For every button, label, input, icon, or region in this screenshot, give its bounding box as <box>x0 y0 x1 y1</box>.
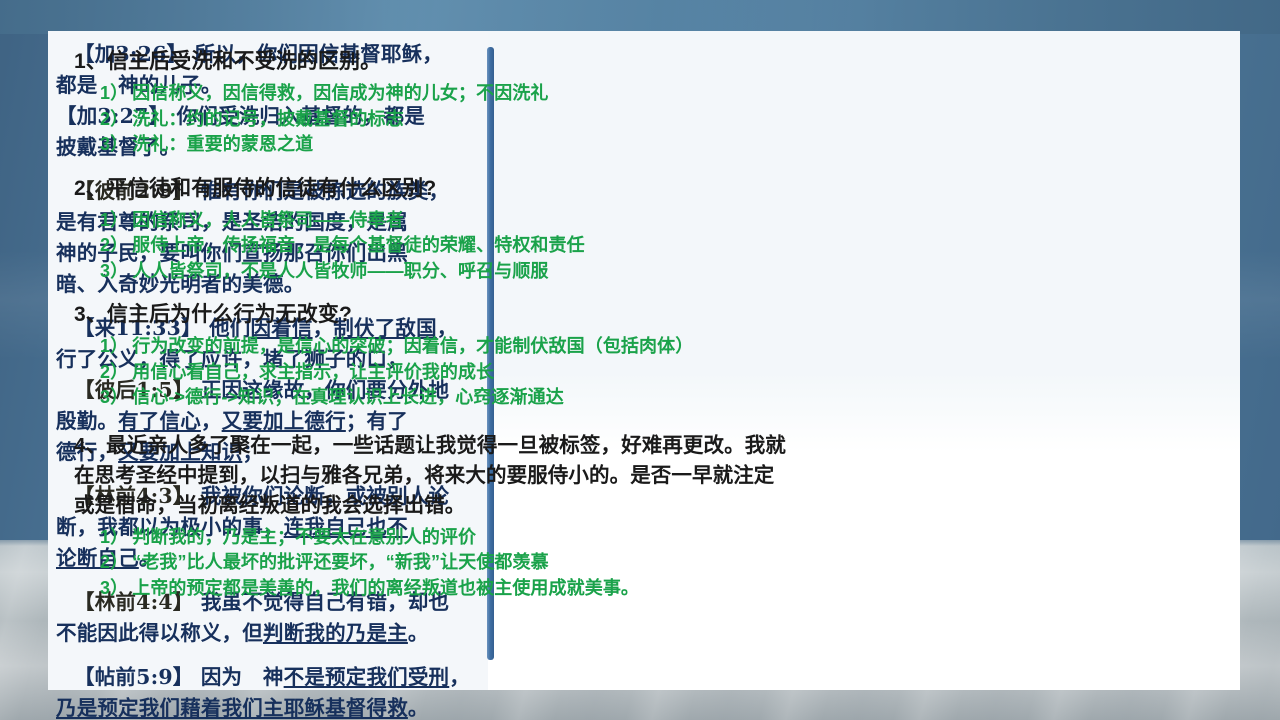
outline-point-text: 行为改变的前提，是信心的突破；因着信，才能制伏敌国（包括肉体） <box>132 336 693 356</box>
outline-point-list: 1）判断我的，乃是主；不要太在意别人的评价2）“老我”比人最坏的批评还要坏，“新… <box>100 525 786 602</box>
outline-point: 3）信心->德行->知识；在真理认识上长进，心窍逐渐通达 <box>100 385 786 411</box>
outline-spacer <box>74 158 786 168</box>
outline-point: 2）服侍上帝，传扬福音，是每个基督徒的荣耀、特权和责任 <box>100 233 786 259</box>
scripture-line: 乃是预定我们藉着我们主耶稣基督得救。 <box>56 693 480 720</box>
outline-point-text: 服侍上帝，传扬福音，是每个基督徒的荣耀、特权和责任 <box>132 235 585 255</box>
presentation-slide: 【加3:26】 所以，你们因信基督耶稣，都是 神的儿子。【加3:27】 你们受洗… <box>0 0 1280 720</box>
outline-point-number: 1） <box>100 83 128 103</box>
scripture-reference: 【帖前5:9】 <box>74 665 194 689</box>
outline-item-heading: 4、最近亲人多了聚在一起，一些话题让我觉得一旦被标签，好难再更改。我就在思考圣经… <box>74 431 786 521</box>
outline-point: 3）人人皆祭司，不是人人皆牧师——职分、呼召与顺服 <box>100 259 786 285</box>
outline-point-list: 1）行为改变的前提，是信心的突破；因着信，才能制伏敌国（包括肉体）2）用信心看自… <box>100 334 786 411</box>
outline-list: 1、信主后受洗和不受洗的区别。1）因信称义，因信得救，因信成为神的儿女；不因洗礼… <box>74 47 786 617</box>
outline-point-text: 洗礼：重要的蒙恩之道 <box>132 134 313 154</box>
outline-point-number: 1） <box>100 336 128 356</box>
outline-point: 2）洗礼：约的记号，披戴基督的标志 <box>100 107 786 133</box>
outline-point-number: 2） <box>100 552 128 572</box>
scripture-line: 【帖前5:9】 因为 神不是预定我们受刑， <box>56 662 480 693</box>
outline-spacer <box>74 601 786 611</box>
outline-point-number: 3） <box>100 387 128 407</box>
outline-point: 1）因信称义，人人皆祭司——侍奉者 <box>100 208 786 234</box>
outline-point: 1）因信称义，因信得救，因信成为神的儿女；不因洗礼 <box>100 81 786 107</box>
outline-point-number: 3） <box>100 261 128 281</box>
outline-point-list: 1）因信称义，人人皆祭司——侍奉者2）服侍上帝，传扬福音，是每个基督徒的荣耀、特… <box>100 208 786 285</box>
outline-point-text: “老我”比人最坏的批评还要坏，“新我”让天使都羡慕 <box>132 552 549 572</box>
outline-point-text: 信心->德行->知识；在真理认识上长进，心窍逐渐通达 <box>132 387 564 407</box>
outline-point-text: 人人皆祭司，不是人人皆牧师——职分、呼召与顺服 <box>132 261 548 281</box>
outline-item: 4、最近亲人多了聚在一起，一些话题让我觉得一旦被标签，好难再更改。我就在思考圣经… <box>74 431 786 612</box>
outline-point-number: 2） <box>100 362 128 382</box>
outline-point: 3）洗礼：重要的蒙恩之道 <box>100 132 786 158</box>
outline-item: 2、平信徒和有服侍的信徒有什么区别?1）因信称义，人人皆祭司——侍奉者2）服侍上… <box>74 174 786 295</box>
outline-spacer <box>74 411 786 425</box>
outline-point-text: 用信心看自己，求主指示，让主评价我的成长 <box>132 362 494 382</box>
slide-content-card: 【加3:26】 所以，你们因信基督耶稣，都是 神的儿子。【加3:27】 你们受洗… <box>48 31 1240 690</box>
outline-point: 2）“老我”比人最坏的批评还要坏，“新我”让天使都羡慕 <box>100 550 786 576</box>
outline-point-number: 2） <box>100 109 128 129</box>
outline-point: 3）上帝的预定都是美善的，我们的离经叛道也被主使用成就美事。 <box>100 576 786 602</box>
outline-point-number: 1） <box>100 527 128 547</box>
outline-item-heading: 2、平信徒和有服侍的信徒有什么区别? <box>74 174 786 204</box>
outline-item: 1、信主后受洗和不受洗的区别。1）因信称义，因信得救，因信成为神的儿女；不因洗礼… <box>74 47 786 168</box>
outline-point-number: 2） <box>100 235 128 255</box>
outline-point-text: 因信称义，因信得救，因信成为神的儿女；不因洗礼 <box>132 83 548 103</box>
outline-point: 1）行为改变的前提，是信心的突破；因着信，才能制伏敌国（包括肉体） <box>100 334 786 360</box>
outline-point-text: 洗礼：约的记号，披戴基督的标志 <box>132 109 404 129</box>
outline-item-heading: 3、信主后为什么行为无改变? <box>74 300 786 330</box>
scripture-line: 不能因此得以称义，但判断我的乃是主。 <box>56 618 480 649</box>
outline-item-heading: 1、信主后受洗和不受洗的区别。 <box>74 47 786 77</box>
outline-point: 2）用信心看自己，求主指示，让主评价我的成长 <box>100 360 786 386</box>
scripture-verse-block: 【帖前5:9】 因为 神不是预定我们受刑，乃是预定我们藉着我们主耶稣基督得救。 <box>56 662 480 720</box>
outline-point-text: 上帝的预定都是美善的，我们的离经叛道也被主使用成就美事。 <box>132 578 639 598</box>
outline-item: 3、信主后为什么行为无改变?1）行为改变的前提，是信心的突破；因着信，才能制伏敌… <box>74 300 786 425</box>
outline-spacer <box>74 284 786 294</box>
outline-point-list: 1）因信称义，因信得救，因信成为神的儿女；不因洗礼2）洗礼：约的记号，披戴基督的… <box>100 81 786 158</box>
outline-point-text: 判断我的，乃是主；不要太在意别人的评价 <box>132 527 476 547</box>
outline-point-number: 1） <box>100 210 128 230</box>
outline-point: 1）判断我的，乃是主；不要太在意别人的评价 <box>100 525 786 551</box>
outline-point-number: 3） <box>100 134 128 154</box>
background-wall-band <box>0 0 1280 34</box>
outline-point-text: 因信称义，人人皆祭司——侍奉者 <box>132 210 404 230</box>
outline-point-number: 3） <box>100 578 128 598</box>
